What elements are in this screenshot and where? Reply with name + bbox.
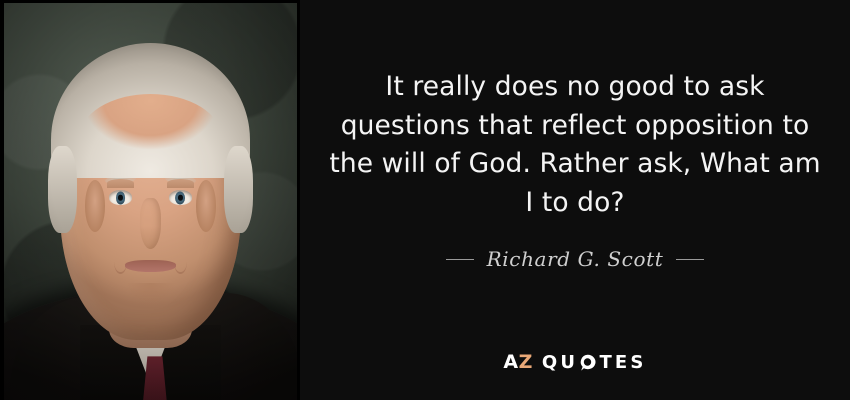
iris-right <box>176 191 186 204</box>
portrait-pane: Portrait photograph of Richard G. Scott,… <box>0 0 300 400</box>
logo-quotes-wordmark: QU TES <box>542 354 647 372</box>
sideburn-left <box>48 146 77 233</box>
chin-shadow <box>125 283 176 306</box>
logo-az-wordmark: AZ <box>503 353 533 372</box>
sideburn-right <box>224 146 253 233</box>
smile-line-right <box>174 249 187 274</box>
azquotes-logo[interactable]: AZ QU TES <box>300 353 850 372</box>
pupil-right <box>178 195 182 201</box>
speech-bubble-icon <box>579 354 596 371</box>
logo-quotes-suffix: TES <box>599 354 646 372</box>
quote-text: It really does no good to ask questions … <box>300 68 850 222</box>
author-portrait-image: Portrait photograph of Richard G. Scott,… <box>4 3 297 400</box>
logo-letter-z: Z <box>519 351 533 373</box>
ear-right <box>196 180 216 231</box>
pupil-left <box>118 195 122 201</box>
nose <box>140 198 162 249</box>
attribution-author-name[interactable]: Richard G. Scott <box>487 247 664 271</box>
ear-left <box>85 180 105 231</box>
eye-left <box>109 190 133 204</box>
logo-quotes-prefix: QU <box>542 354 578 372</box>
eye-right <box>169 190 193 204</box>
quote-card: Portrait photograph of Richard G. Scott,… <box>0 0 850 400</box>
iris-left <box>116 191 126 204</box>
attribution-dash-left <box>446 259 474 260</box>
logo-letter-a: A <box>503 351 518 373</box>
attribution: Richard G. Scott <box>300 247 850 271</box>
mouth <box>125 260 176 271</box>
smile-line-left <box>114 249 127 274</box>
attribution-dash-right <box>676 259 704 260</box>
quote-pane: It really does no good to ask questions … <box>300 0 850 400</box>
